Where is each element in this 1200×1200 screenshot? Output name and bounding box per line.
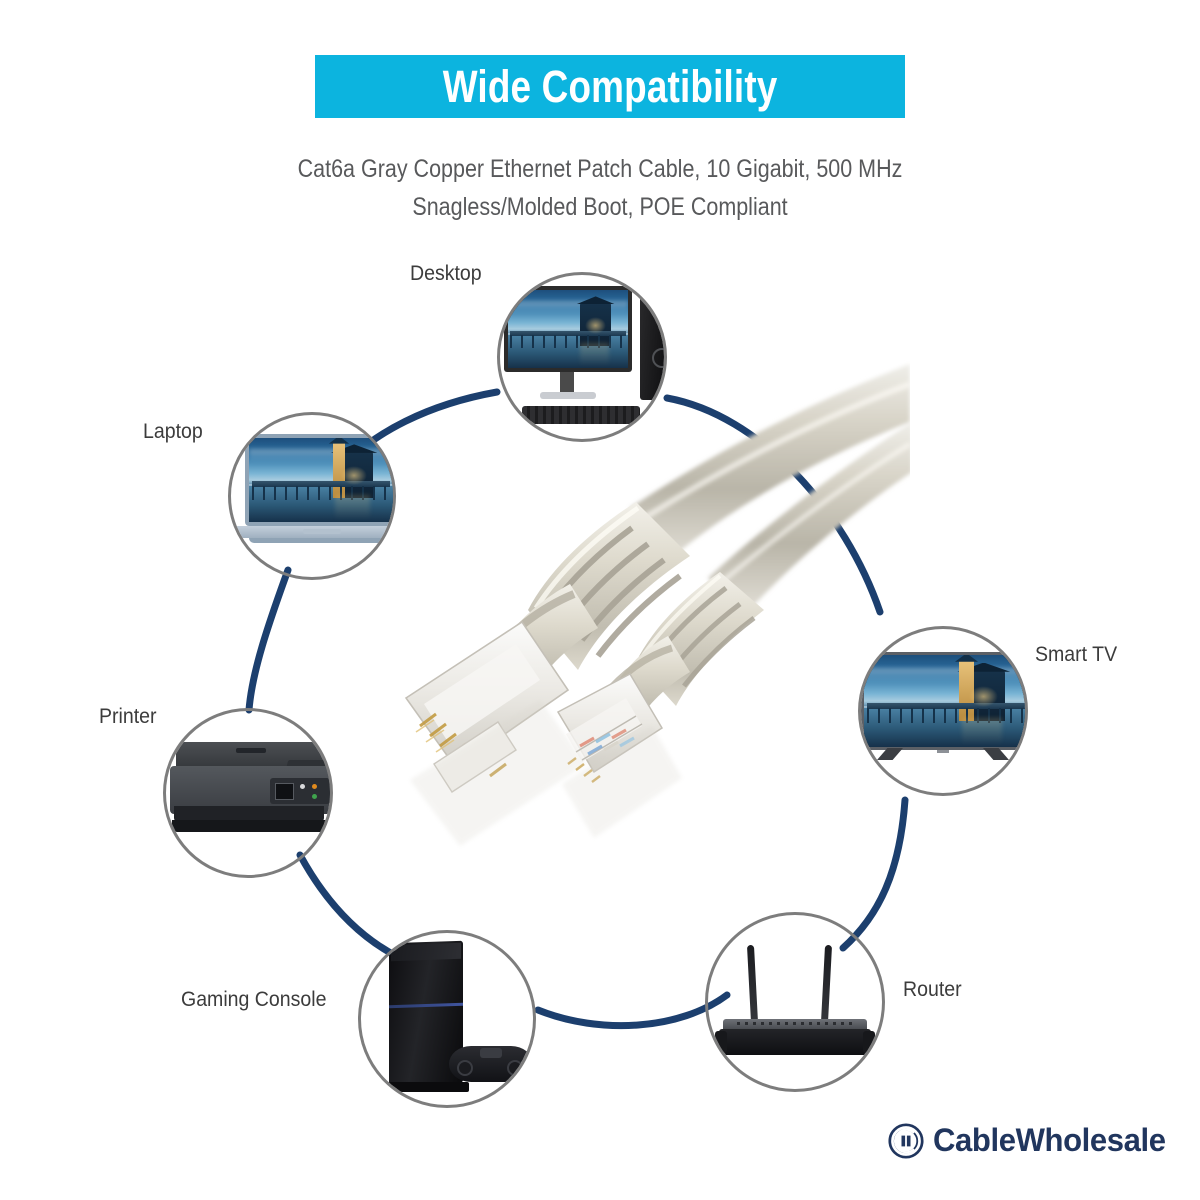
node-label-router: Router [903, 978, 966, 1002]
game-console-icon [361, 933, 533, 1105]
laptop-icon [231, 415, 393, 577]
node-label-gaming-console: Gaming Console [181, 988, 337, 1012]
gamepad-icon [449, 1038, 533, 1088]
product-image-ethernet-cable [390, 360, 910, 880]
node-laptop[interactable] [228, 412, 396, 580]
infographic-page: Wide Compatibility Cat6a Gray Copper Eth… [0, 0, 1200, 1200]
node-label-smart-tv: Smart TV [1035, 643, 1123, 667]
arc-console-router [538, 995, 727, 1026]
brand-logo: CableWholesale [888, 1122, 1173, 1159]
printer-control-panel [270, 778, 330, 804]
antenna-icon [747, 945, 758, 1023]
wifi-router-icon [708, 915, 882, 1089]
brand-name: CableWholesale [933, 1122, 1166, 1159]
arc-laptop-printer [249, 570, 288, 710]
node-gaming-console[interactable] [358, 930, 536, 1108]
cablewholesale-monogram-icon [888, 1123, 924, 1159]
node-label-laptop: Laptop [143, 420, 207, 444]
antenna-icon [821, 945, 832, 1023]
node-label-printer: Printer [99, 705, 161, 729]
printer-icon [166, 711, 330, 875]
node-router[interactable] [705, 912, 885, 1092]
node-printer[interactable] [163, 708, 333, 878]
node-label-desktop: Desktop [410, 262, 487, 286]
